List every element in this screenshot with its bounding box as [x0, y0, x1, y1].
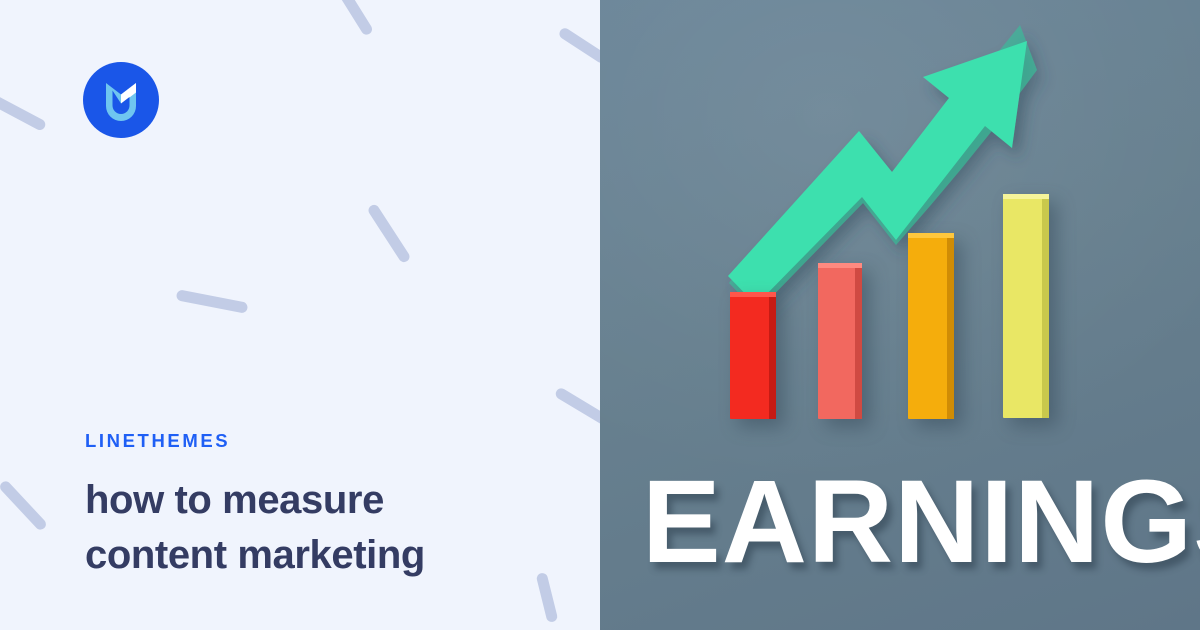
page-title: how to measure content marketing [85, 473, 555, 583]
decor-dash [0, 479, 48, 532]
bar-side-face [947, 233, 954, 419]
hero-photo-panel: EARNINGS [600, 0, 1200, 630]
bar-top-face [908, 233, 954, 238]
bar-yellow [1003, 194, 1049, 418]
social-share-card: LINETHEMES how to measure content market… [0, 0, 1200, 630]
bar-top-face [730, 292, 776, 297]
linethemes-logo-icon[interactable] [83, 62, 159, 138]
bar-side-face [1042, 194, 1049, 418]
left-content-panel: LINETHEMES how to measure content market… [0, 0, 600, 630]
bar-top-face [818, 263, 862, 268]
decor-dash [554, 386, 600, 428]
brand-eyebrow-label: LINETHEMES [85, 432, 555, 451]
bar-side-face [769, 292, 776, 419]
decor-dash [557, 26, 600, 65]
earnings-overlay-text: EARNINGS [642, 463, 1200, 581]
bar-red [730, 292, 776, 419]
bar-orange [908, 233, 954, 419]
decor-dash [366, 203, 411, 264]
decor-dash [176, 289, 249, 314]
bar-coral [818, 263, 862, 419]
decor-dash [332, 0, 374, 37]
bar-side-face [855, 263, 862, 419]
headline-block: LINETHEMES how to measure content market… [85, 432, 555, 583]
headline-line-2: content marketing [85, 528, 555, 583]
bar-top-face [1003, 194, 1049, 199]
headline-line-1: how to measure [85, 473, 555, 528]
decor-dash [0, 95, 47, 132]
